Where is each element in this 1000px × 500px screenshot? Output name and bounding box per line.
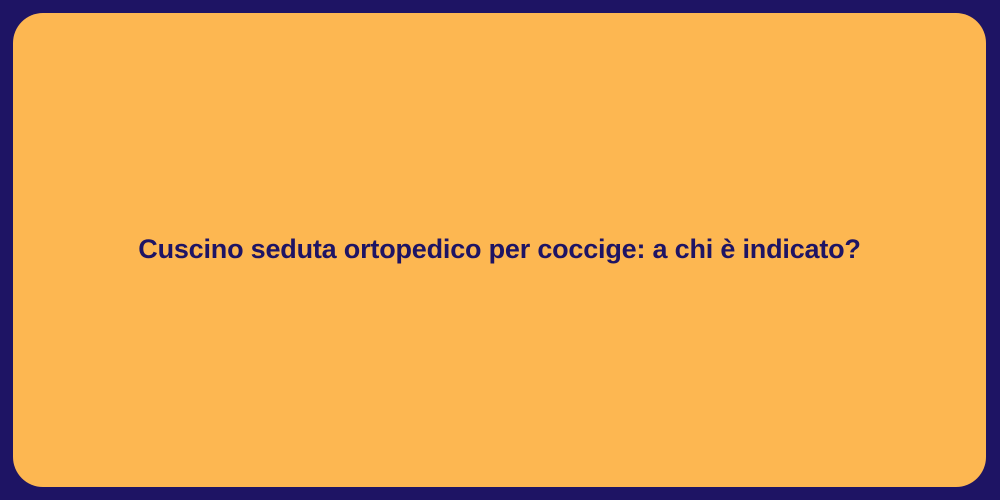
banner-frame: Cuscino seduta ortopedico per coccige: a… (0, 0, 1000, 500)
banner-card: Cuscino seduta ortopedico per coccige: a… (13, 13, 986, 487)
page-title: Cuscino seduta ortopedico per coccige: a… (138, 232, 860, 267)
